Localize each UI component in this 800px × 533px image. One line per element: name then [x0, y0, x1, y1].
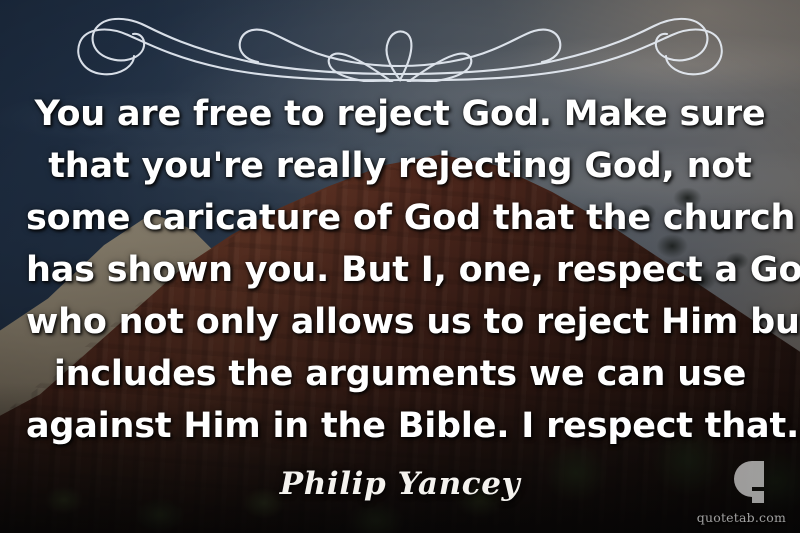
quotetab-q-logo-icon [714, 457, 770, 513]
quote-line-7: against Him in the Bible. I respect that… [26, 400, 774, 452]
author-name: Philip Yancey [0, 466, 800, 502]
quote-line-3: some caricature of God that the church [26, 192, 774, 244]
quote-line-4: has shown you. But I, one, respect a God [26, 244, 774, 296]
quote-line-1: You are free to reject God. Make sure [26, 88, 774, 140]
quote-line-6: includes the arguments we can use [26, 348, 774, 400]
flourish-ornament-icon [70, 4, 730, 82]
brand-watermark[interactable]: quotetab.com [694, 457, 788, 527]
quote-line-2: that you're really rejecting God, not [26, 140, 774, 192]
brand-site-label: quotetab.com [697, 510, 786, 525]
quote-text-block: You are free to reject God. Make sure th… [26, 88, 774, 452]
quote-image-card: You are free to reject God. Make sure th… [0, 0, 800, 533]
card-content: You are free to reject God. Make sure th… [0, 0, 800, 533]
quote-line-5: who not only allows us to reject Him but [26, 296, 774, 348]
